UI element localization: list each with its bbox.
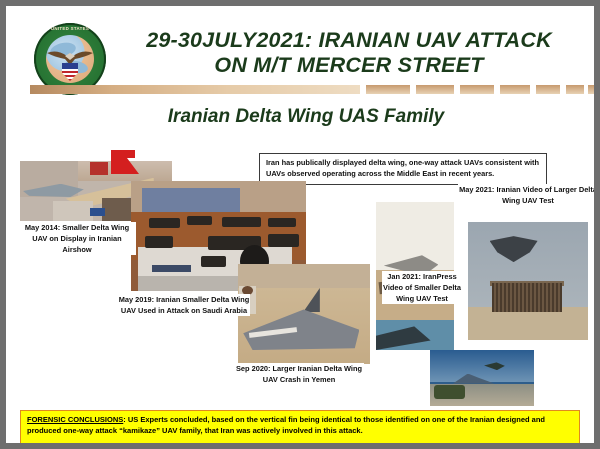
photo-may-2021 [468, 222, 588, 340]
photo-sep-2020 [238, 264, 370, 364]
slide-subtitle: Iranian Delta Wing UAS Family [6, 106, 600, 128]
red-arrow-icon [109, 148, 143, 182]
forensic-conclusions-box: FORENSIC CONCLUSIONS: US Experts conclud… [20, 410, 580, 448]
forensic-conclusions-label: FORENSIC CONCLUSIONS [27, 415, 123, 424]
caption-jan-2021: Jan 2021: IranPress Video of Smaller Del… [382, 271, 462, 304]
caption-may-2021: May 2021: Iranian Video of Larger Delta … [458, 184, 598, 206]
caption-sep-2020: Sep 2020: Larger Iranian Delta Wing UAV … [234, 363, 364, 385]
page-title: 29-30JULY2021: IRANIAN UAV ATTACK ON M/T… [114, 28, 584, 79]
caption-may-2014: May 2014: Smaller Delta Wing UAV on Disp… [18, 222, 136, 255]
presentation-slide: UNITED STATES CENTRAL COMMAND 29-30JULY2… [0, 0, 600, 449]
title-line-2: ON M/T MERCER STREET [114, 53, 584, 78]
header-divider [30, 85, 586, 94]
caption-may-2019: May 2019: Iranian Smaller Delta Wing UAV… [118, 294, 250, 316]
title-line-1: 29-30JULY2021: IRANIAN UAV ATTACK [146, 28, 552, 52]
photo-desert-uav-flight [430, 350, 534, 406]
